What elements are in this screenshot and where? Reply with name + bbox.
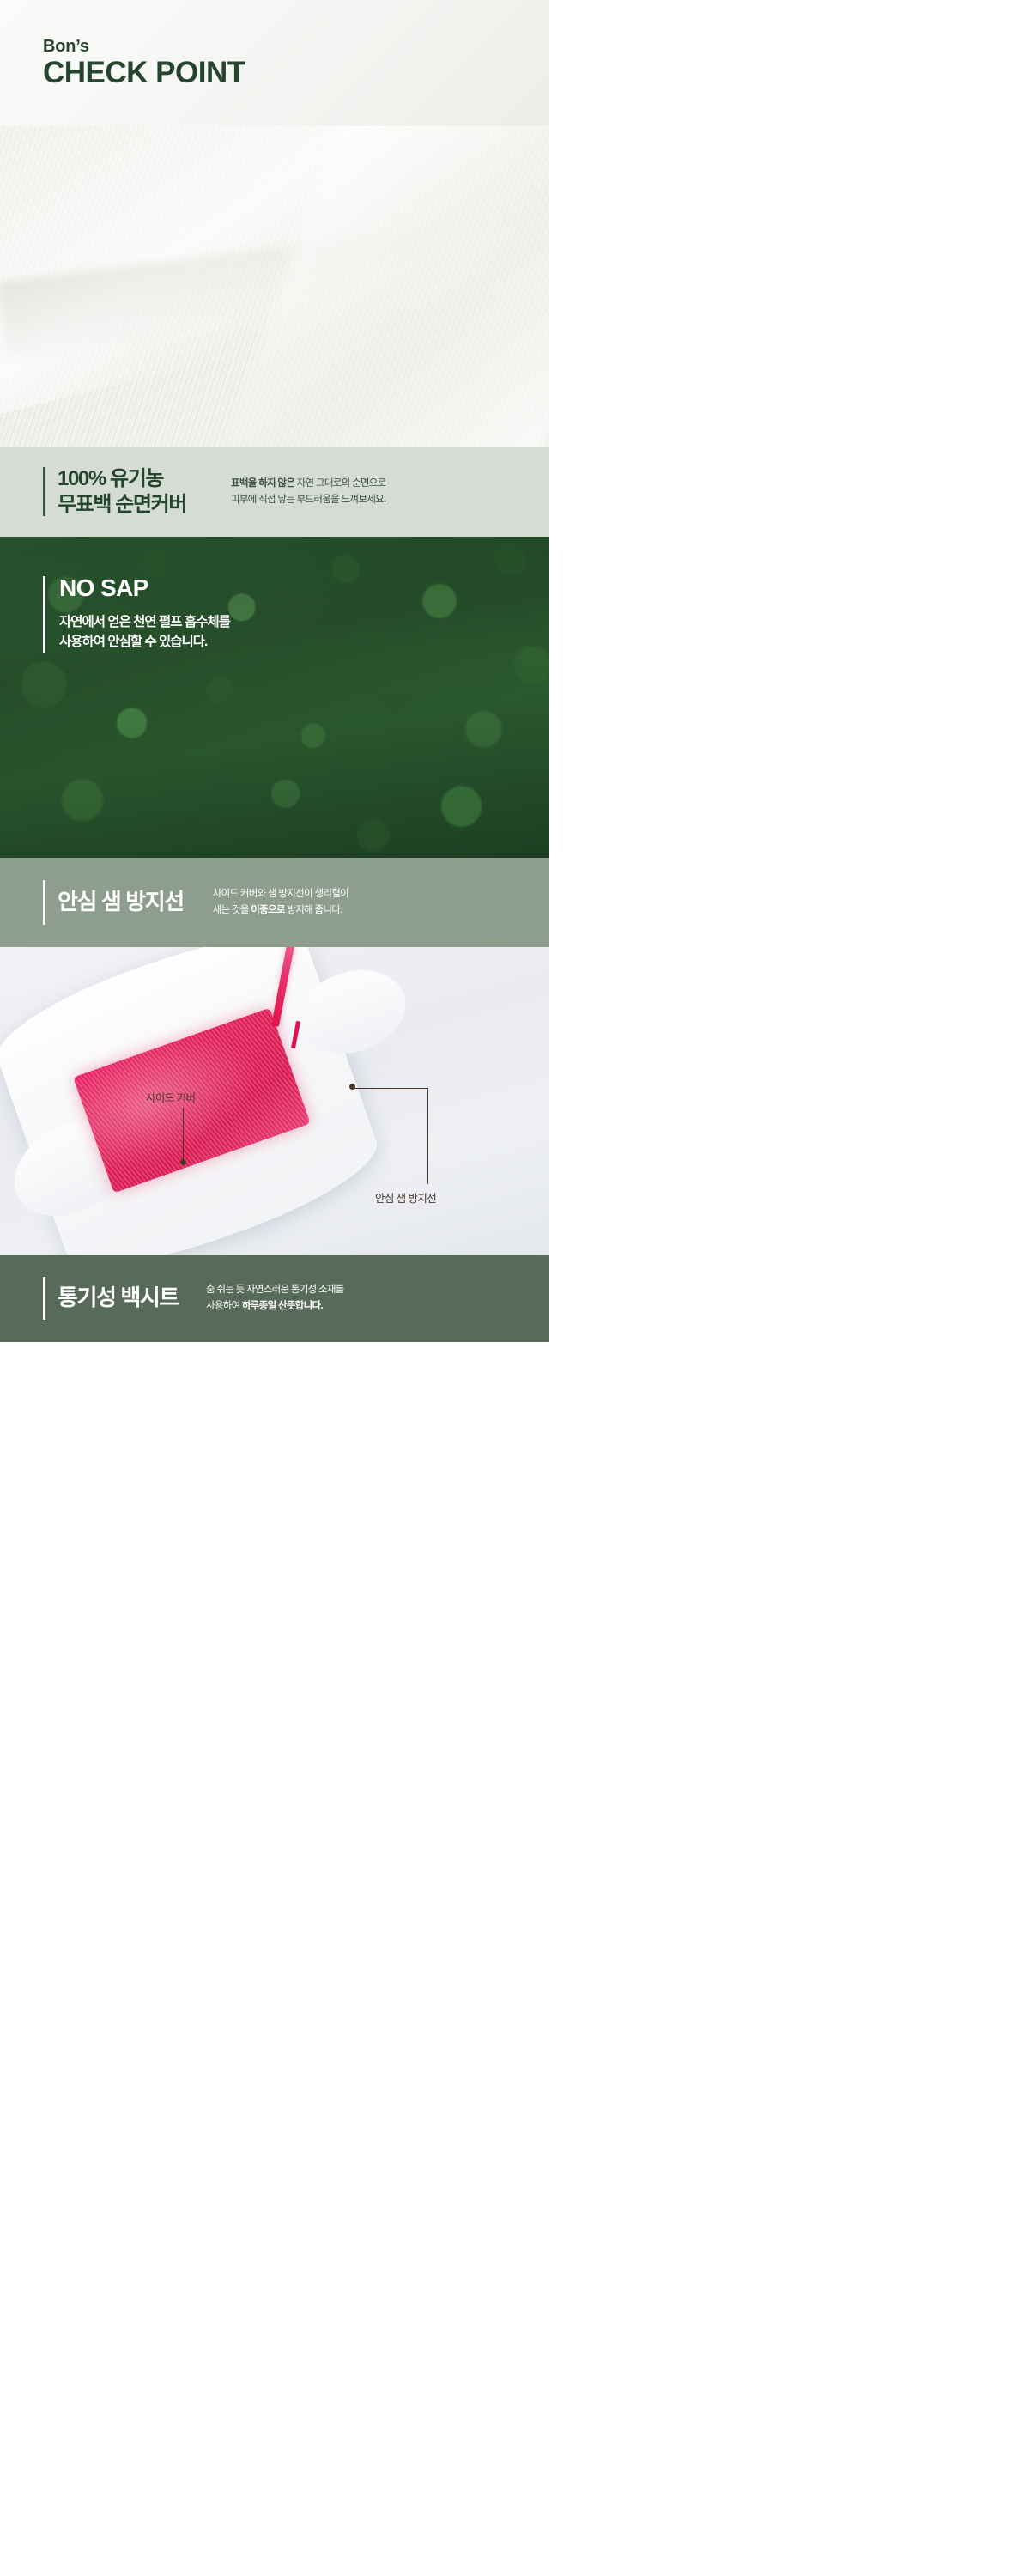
accent-bar bbox=[43, 880, 45, 925]
callout-leak-guard: 안심 샘 방지선 bbox=[375, 1189, 436, 1206]
feature-desc-line2-pre-leak-guard: 새는 것을 bbox=[213, 905, 251, 915]
feature-title-leak-guard: 안심 샘 방지선 bbox=[58, 889, 184, 915]
feature-desc-breathable-backsheet: 숨 쉬는 듯 자연스러운 통기성 소재를사용하여 하루종일 산뜻합니다. bbox=[206, 1282, 344, 1314]
feature-desc-line1-breathable-backsheet: 숨 쉬는 듯 자연스러운 통기성 소재를 bbox=[206, 1285, 344, 1295]
no-sap-text-group: NO SAP 자연에서 얻은 천연 펄프 흡수체를 사용하여 안심할 수 있습니… bbox=[59, 576, 230, 653]
feature-desc-line2-post-leak-guard: 방지해 줍니다. bbox=[285, 905, 342, 915]
product-detail-page: Bon’s CHECK POINT 100% 유기농 무표백 순면커버 표백을 … bbox=[0, 0, 549, 1342]
brand-name: Bon’s bbox=[43, 37, 549, 56]
callout-label-leak-guard: 안심 샘 방지선 bbox=[375, 1189, 436, 1206]
forest-aerial-photo: NO SAP 자연에서 얻은 천연 펄프 흡수체를 사용하여 안심할 수 있습니… bbox=[0, 537, 549, 858]
feature-title-organic-cotton: 100% 유기농 무표백 순면커버 bbox=[58, 466, 186, 517]
feature-desc-line2-bold-leak-guard: 이중으로 bbox=[251, 905, 285, 915]
feature-desc-bold-organic-cotton: 표백을 하지 않은 bbox=[231, 478, 294, 489]
page-header: Bon’s CHECK POINT bbox=[0, 0, 549, 126]
feature-band-organic-cotton: 100% 유기농 무표백 순면커버 표백을 하지 않은 자연 그대로의 순면으로… bbox=[0, 447, 549, 537]
feature-desc-line1-leak-guard: 사이드 커버와 샘 방지선이 생리혈이 bbox=[213, 889, 348, 899]
feature-desc-rest-organic-cotton: 자연 그대로의 순면으로 bbox=[294, 478, 385, 489]
no-sap-overlay: NO SAP 자연에서 얻은 천연 펄프 흡수체를 사용하여 안심할 수 있습니… bbox=[43, 576, 230, 653]
feature-title-no-sap: NO SAP bbox=[59, 576, 230, 600]
callout-leader-line-vertical bbox=[427, 1088, 428, 1184]
feature-desc-line2-organic-cotton: 피부에 직접 닿는 부드러움을 느껴보세요. bbox=[231, 495, 385, 505]
cotton-texture-photo bbox=[0, 126, 549, 447]
feature-band-breathable-backsheet: 통기성 백시트 숨 쉬는 듯 자연스러운 통기성 소재를사용하여 하루종일 산뜻… bbox=[0, 1255, 549, 1342]
pad-absorption-photo: 사이드 커버 안심 샘 방지선 bbox=[0, 947, 549, 1255]
cotton-fold-highlight bbox=[0, 215, 549, 358]
feature-desc-leak-guard: 사이드 커버와 샘 방지선이 생리혈이새는 것을 이중으로 방지해 줍니다. bbox=[213, 886, 348, 918]
callout-side-cover: 사이드 커버 bbox=[146, 1089, 195, 1105]
feature-desc-organic-cotton: 표백을 하지 않은 자연 그대로의 순면으로피부에 직접 닿는 부드러움을 느껴… bbox=[231, 476, 385, 507]
callout-leader-line-horizontal bbox=[352, 1088, 428, 1089]
feature-desc-line2-bold-breathable-backsheet: 하루종일 산뜻합니다. bbox=[242, 1301, 323, 1311]
feature-band-leak-guard: 안심 샘 방지선 사이드 커버와 샘 방지선이 생리혈이새는 것을 이중으로 방… bbox=[0, 858, 549, 947]
page-title: CHECK POINT bbox=[43, 58, 549, 89]
callout-leader-line bbox=[183, 1108, 184, 1161]
callout-label-side-cover: 사이드 커버 bbox=[146, 1089, 195, 1105]
accent-bar bbox=[43, 1277, 45, 1320]
feature-title-breathable-backsheet: 통기성 백시트 bbox=[58, 1285, 179, 1311]
accent-bar bbox=[43, 576, 45, 653]
accent-bar bbox=[43, 467, 45, 516]
feature-desc-no-sap: 자연에서 얻은 천연 펄프 흡수체를 사용하여 안심할 수 있습니다. bbox=[59, 612, 230, 653]
callout-anchor-dot bbox=[180, 1159, 186, 1165]
feature-desc-line2-pre-breathable-backsheet: 사용하여 bbox=[206, 1301, 242, 1311]
